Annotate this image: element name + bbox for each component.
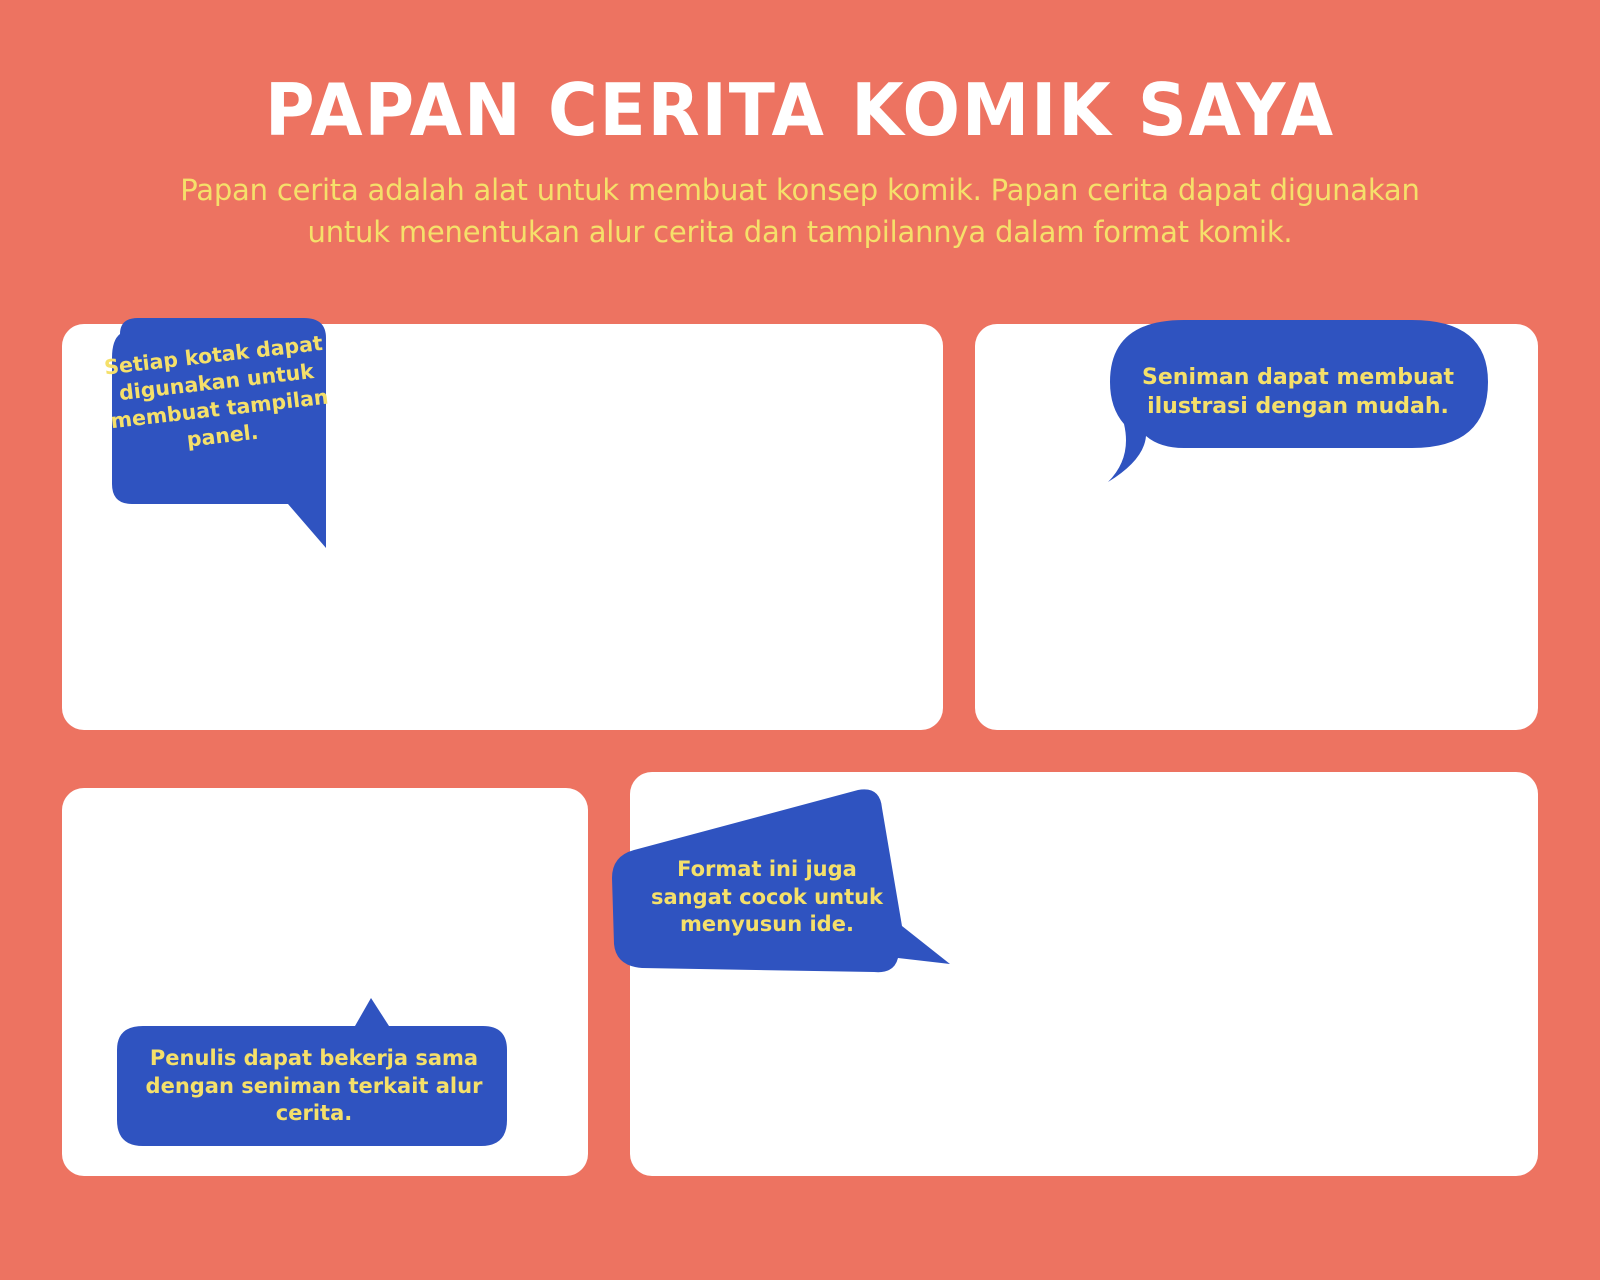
speech-bubble-4-text: Penulis dapat bekerja sama dengan senima… bbox=[143, 1045, 485, 1128]
speech-bubble-2[interactable]: Seniman dapat membuat ilustrasi dengan m… bbox=[1108, 320, 1488, 485]
page-subtitle: Papan cerita adalah alat untuk membuat k… bbox=[150, 147, 1450, 253]
speech-bubble-3[interactable]: Format ini juga sangat cocok untuk menyu… bbox=[612, 786, 952, 978]
header: PAPAN CERITA KOMIK SAYA Papan cerita ada… bbox=[0, 0, 1600, 254]
speech-bubble-2-text: Seniman dapat membuat ilustrasi dengan m… bbox=[1130, 363, 1466, 421]
page-title: PAPAN CERITA KOMIK SAYA bbox=[48, 0, 1552, 147]
storyboard-canvas: PAPAN CERITA KOMIK SAYA Papan cerita ada… bbox=[0, 0, 1600, 1280]
speech-bubble-3-text: Format ini juga sangat cocok untuk menyu… bbox=[636, 856, 898, 939]
speech-bubble-4[interactable]: Penulis dapat bekerja sama dengan senima… bbox=[117, 998, 510, 1150]
speech-bubble-1[interactable]: Setiap kotak dapat digunakan untuk membu… bbox=[98, 318, 338, 568]
